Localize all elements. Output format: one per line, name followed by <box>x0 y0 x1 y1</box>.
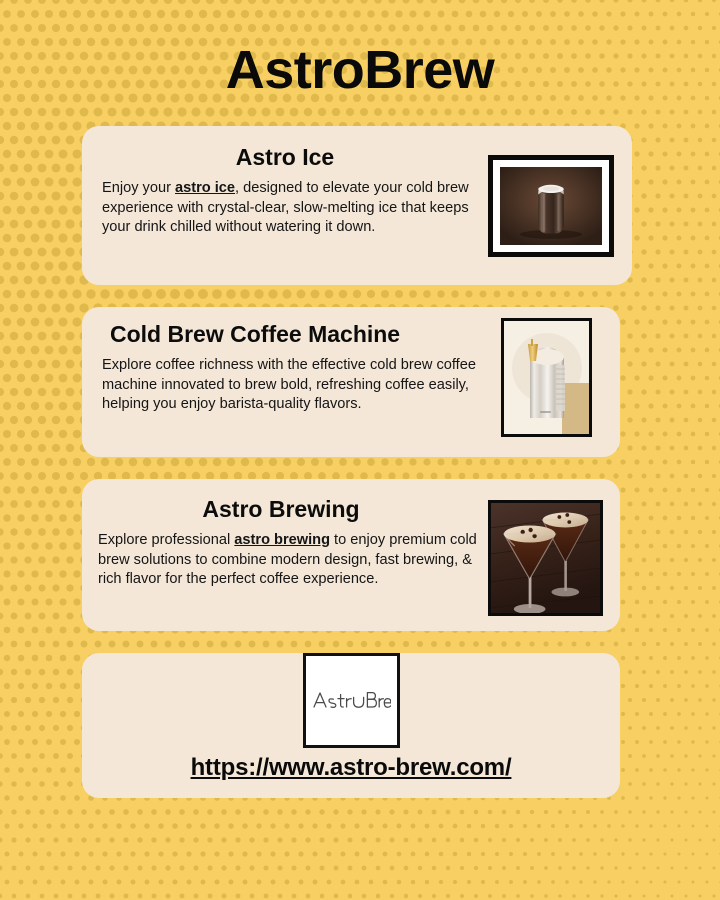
card-body: Explore professional astro brewing to en… <box>98 531 480 590</box>
body-text-before: Enjoy your <box>102 180 175 196</box>
card-heading: Astro Brewing <box>98 496 480 522</box>
card-astro-ice[interactable]: Astro Ice Enjoy your astro ice, designed… <box>82 126 632 285</box>
body-keyword-link[interactable]: astro ice <box>175 180 235 196</box>
card-body: Explore coffee richness with the effecti… <box>102 356 493 415</box>
card-text-block: Cold Brew Coffee Machine Explore coffee … <box>82 307 501 415</box>
brand-logo-box <box>303 653 400 748</box>
body-text-before: Explore coffee richness with the effecti… <box>102 357 476 412</box>
espresso-martini-photo <box>491 503 600 613</box>
product-image-frame <box>501 318 592 437</box>
astro-ice-tumbler-photo <box>500 167 602 245</box>
card-list: Astro Ice Enjoy your astro ice, designed… <box>0 126 720 798</box>
page-title: AstroBrew <box>0 0 720 99</box>
card-heading: Astro Ice <box>102 144 480 170</box>
card-text-block: Astro Ice Enjoy your astro ice, designed… <box>82 126 488 238</box>
body-keyword-link[interactable]: astro brewing <box>234 532 330 548</box>
card-heading: Cold Brew Coffee Machine <box>102 321 493 347</box>
card-cold-brew-machine[interactable]: Cold Brew Coffee Machine Explore coffee … <box>82 307 620 457</box>
card-astro-brewing[interactable]: Astro Brewing Explore professional astro… <box>82 479 620 631</box>
card-text-block: Astro Brewing Explore professional astro… <box>82 479 488 590</box>
image-mat <box>493 160 609 252</box>
cold-brew-machine-photo <box>504 321 589 434</box>
astrobrew-logo-icon <box>311 683 391 717</box>
card-body: Enjoy your astro ice, designed to elevat… <box>102 179 480 238</box>
website-url-link[interactable]: https://www.astro-brew.com/ <box>82 754 620 782</box>
poster-root: AstroBrew Astro Ice Enjoy your astro ice… <box>0 0 720 900</box>
body-text-before: Explore professional <box>98 532 234 548</box>
card-brand-footer[interactable]: https://www.astro-brew.com/ <box>82 653 620 798</box>
product-image-frame <box>488 155 614 257</box>
product-image-frame <box>488 500 603 616</box>
